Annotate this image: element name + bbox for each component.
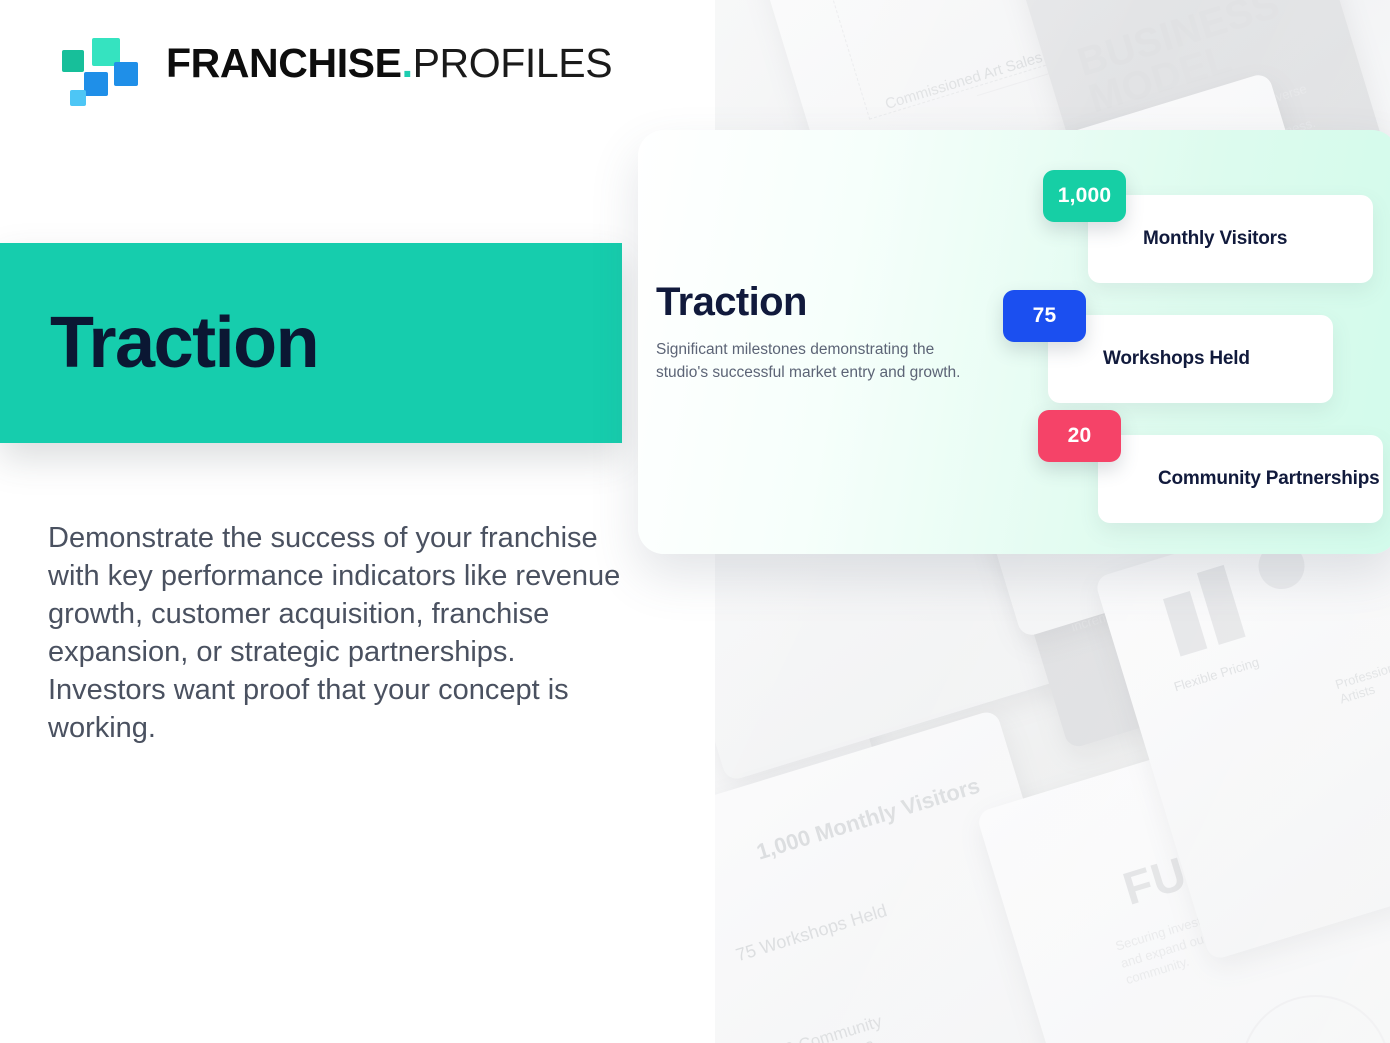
logo-square-blue-icon [84, 72, 108, 96]
logo-square-blue-2-icon [114, 62, 138, 86]
artwork-subtitle-fundraising: Securing investment to scale our operati… [1113, 859, 1387, 988]
artwork-label-commissioned-art: Commissioned Art Sales [883, 49, 1044, 113]
logo-dot: . [402, 40, 413, 86]
artwork-title-fundraising: FUNDRAISING [1117, 767, 1390, 915]
metric-badge: 20 [1038, 410, 1121, 462]
section-banner: Traction [0, 243, 622, 443]
artwork-card-fundraising: FUNDRAISING Securing investment to scale… [976, 687, 1390, 1043]
artwork-card-traction-thumb: 1,000 Monthly Visitors 75 Workshops Held… [715, 709, 1136, 1043]
logo-word-profiles: PROFILES [413, 40, 613, 86]
metric-badge: 1,000 [1043, 170, 1126, 222]
artwork-card-problem: Lack of Accessibility High Cost Limited … [715, 564, 921, 996]
metric-label: Community Partnerships [1158, 467, 1380, 490]
logo-word-franchise: FRANCHISE [166, 40, 402, 86]
artwork-label-limited-resources: Limited Resources [715, 803, 826, 852]
panel-text-block: Traction Significant milestones demonstr… [656, 280, 986, 385]
artwork-label-high-cost: High Cost [765, 687, 828, 720]
metric-label: Monthly Visitors [1143, 227, 1287, 250]
artwork-label-lack-accessibility: Lack of Accessibility [715, 610, 808, 662]
section-description: Demonstrate the success of your franchis… [48, 520, 628, 748]
logo-wordmark: FRANCHISE.PROFILES [166, 40, 612, 87]
metric-card: Monthly Visitors [1088, 195, 1373, 283]
artwork-metric-partnerships: 20 Community Partnerships [774, 991, 958, 1043]
metric-label: Workshops Held [1103, 347, 1250, 370]
artwork-metric-workshops: 75 Workshops Held [733, 900, 889, 966]
banner-title: Traction [50, 302, 318, 384]
artwork-label-flexible-pricing: Flexible Pricing [1172, 654, 1262, 695]
artwork-title-business-model: BUSINESS MODEL [1073, 0, 1352, 118]
logo-mark-squares [48, 44, 106, 102]
metric-card: Workshops Held [1048, 315, 1333, 403]
artwork-metric-visitors: 1,000 Monthly Visitors [754, 773, 983, 866]
artwork-label-professional-artists: Professional Artists [1333, 649, 1390, 707]
metric-card: Community Partnerships [1098, 435, 1383, 523]
panel-title: Traction [656, 280, 986, 325]
logo-square-light-blue-icon [70, 90, 86, 106]
brand-logo[interactable]: FRANCHISE.PROFILES [48, 44, 106, 102]
panel-subtitle: Significant milestones demonstrating the… [656, 339, 986, 385]
logo-square-teal-dark-icon [62, 50, 84, 72]
metric-badge: 75 [1003, 290, 1086, 342]
traction-panel: Traction Significant milestones demonstr… [638, 130, 1390, 554]
